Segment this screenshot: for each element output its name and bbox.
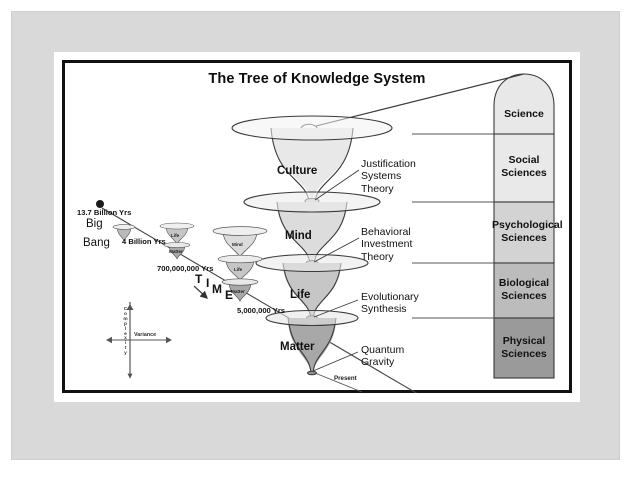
axis-label-complexity: Complexity <box>122 308 129 357</box>
time-label-big: Big <box>86 218 103 230</box>
science-dome <box>494 74 554 134</box>
theory-quantum-gravity: QuantumGravity <box>361 344 404 369</box>
time-letter-i: I <box>206 276 209 290</box>
theory-evolutionary-synthesis: EvolutionarySynthesis <box>361 291 419 316</box>
time-label-present: Present <box>334 375 357 382</box>
column-label-biological: BiologicalSciences <box>494 277 554 302</box>
diagram-canvas: The Tree of Knowledge System <box>62 60 572 393</box>
time-label-origin: 13.7 Billion Yrs <box>77 208 131 217</box>
funnel-label-matter: Matter <box>280 341 315 353</box>
time-letter-t: T <box>195 272 202 286</box>
funnel-label-mind: Mind <box>285 230 312 242</box>
time-letter-m: M <box>212 282 222 296</box>
funnel-label-culture: Culture <box>277 165 317 177</box>
column-label-physical: PhysicalSciences <box>494 335 554 360</box>
time-marker-5m: 5,000,000 Yrs <box>237 306 285 315</box>
mini-label-matter-a: Matter <box>169 249 183 254</box>
funnel-label-life: Life <box>290 289 310 301</box>
time-diagonal-line-ext <box>394 380 514 393</box>
big-bang-dot <box>96 200 104 208</box>
axes-cross <box>106 302 172 378</box>
mini-label-mind-b: Mind <box>232 242 243 247</box>
column-label-psychological: PsychologicalSciences <box>492 219 556 244</box>
axis-label-variance: Variance <box>134 333 156 338</box>
time-marker-700m: 700,000,000 Yrs <box>157 264 213 273</box>
mini-label-life-b: Life <box>234 267 242 272</box>
theory-justification-systems: JustificationSystemsTheory <box>361 158 416 195</box>
column-label-science: Science <box>494 108 554 121</box>
column-label-social: SocialSciences <box>494 154 554 179</box>
mini-label-matter-b: Matter <box>231 289 245 294</box>
theory-behavioral-investment: BehavioralInvestmentTheory <box>361 226 412 263</box>
time-marker-4b: 4 Billion Yrs <box>122 237 166 246</box>
mini-label-life-a: Life <box>171 233 179 238</box>
time-label-bang: Bang <box>83 237 110 249</box>
